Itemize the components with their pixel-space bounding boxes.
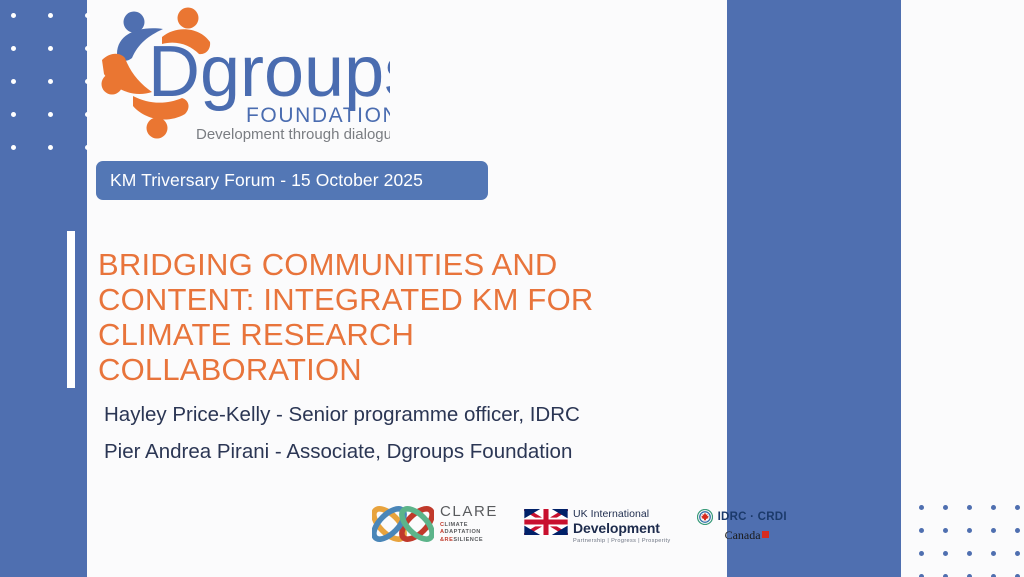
presentation-slide: Dgroups FOUNDATION Development through d…: [0, 0, 1024, 577]
uk-tagline: Partnership | Progress | Prosperity: [573, 539, 671, 545]
partner-logo-row: CLARE CLIMATE ADAPTATION &RESILIENCE UK …: [372, 489, 787, 559]
dot: [919, 528, 924, 533]
idrc-name: IDRC · CRDI: [718, 511, 787, 523]
bottom-right-dot-pattern: [919, 505, 1024, 577]
uk-text-block: UK International Development Partnership…: [573, 509, 671, 544]
dot: [991, 505, 996, 510]
logo-subtitle: FOUNDATION: [246, 104, 390, 127]
page-title: Bridging communities and content: Integr…: [98, 247, 658, 387]
event-banner: KM Triversary Forum - 15 October 2025: [96, 161, 488, 200]
dot: [967, 551, 972, 556]
canada-wordmark: Canada: [725, 528, 769, 543]
dot: [85, 145, 90, 150]
far-right-white-area: [901, 0, 1024, 577]
dot: [943, 505, 948, 510]
dot: [11, 145, 16, 150]
clare-name: CLARE: [440, 504, 498, 519]
logo-wordmark: Dgroups: [148, 32, 390, 112]
presenter-item: Hayley Price-Kelly - Senior programme of…: [104, 396, 704, 433]
uk-line-2: Development: [573, 521, 671, 535]
dot: [991, 551, 996, 556]
dgroups-logo: Dgroups FOUNDATION Development through d…: [90, 2, 390, 142]
canada-wordmark-tail: a: [755, 528, 760, 542]
union-jack-flag-icon: [524, 509, 568, 535]
uk-international-development-logo: UK International Development Partnership…: [524, 503, 671, 544]
uk-line-1: UK International: [573, 509, 671, 520]
clare-subtitle-line: ADAPTATION: [440, 529, 498, 536]
dot: [943, 551, 948, 556]
idrc-maple-leaf-icon: [697, 509, 713, 525]
dot: [11, 13, 16, 18]
dot: [919, 505, 924, 510]
dot: [943, 528, 948, 533]
dot: [11, 112, 16, 117]
idrc-crdi-logo: IDRC · CRDI Canada: [697, 505, 787, 543]
dot: [1015, 505, 1020, 510]
presenter-list: Hayley Price-Kelly - Senior programme of…: [104, 396, 704, 470]
canada-wordmark-text: Canad: [725, 528, 756, 542]
idrc-name-row: IDRC · CRDI: [697, 509, 787, 525]
dot: [48, 112, 53, 117]
title-accent-bar: [67, 231, 75, 388]
clare-subtitle-line: &RESILIENCE: [440, 537, 498, 544]
dot: [967, 505, 972, 510]
dot: [48, 46, 53, 51]
clare-logo: CLARE CLIMATE ADAPTATION &RESILIENCE: [372, 493, 498, 555]
logo-tagline: Development through dialogue: [196, 126, 390, 142]
dot: [11, 46, 16, 51]
dot: [967, 528, 972, 533]
dot: [1015, 528, 1020, 533]
dot: [48, 145, 53, 150]
canada-flag-icon: [762, 531, 769, 538]
presenter-item: Pier Andrea Pirani - Associate, Dgroups …: [104, 433, 704, 470]
clare-subtitle: CLIMATE ADAPTATION &RESILIENCE: [440, 522, 498, 544]
dot: [11, 79, 16, 84]
clare-text-block: CLARE CLIMATE ADAPTATION &RESILIENCE: [440, 504, 498, 544]
dot: [991, 528, 996, 533]
dot: [1015, 551, 1020, 556]
clare-subtitle-line: CLIMATE: [440, 522, 498, 529]
event-banner-label: KM Triversary Forum - 15 October 2025: [110, 170, 423, 191]
clare-petal-icon: [372, 493, 434, 555]
dot: [48, 79, 53, 84]
dot: [919, 551, 924, 556]
dot: [48, 13, 53, 18]
